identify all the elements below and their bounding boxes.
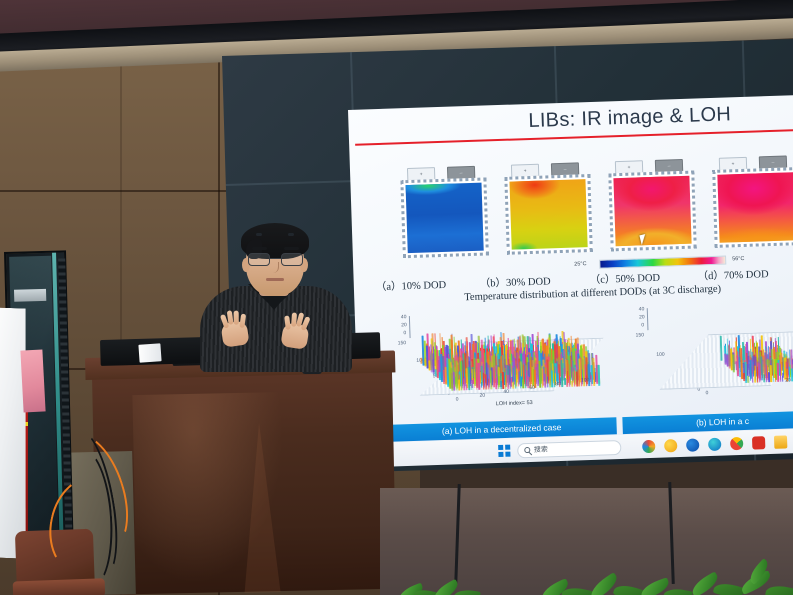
hand-left bbox=[220, 320, 249, 347]
dod-label-d: （d）70% DOD bbox=[697, 266, 768, 283]
ir-image-row: + – + – + – + – + bbox=[400, 147, 793, 266]
z-tick-20: 20 bbox=[639, 314, 645, 320]
inspection-tag bbox=[20, 349, 45, 412]
search-input[interactable]: 搜索 bbox=[517, 439, 621, 457]
edge-legacy-icon[interactable] bbox=[685, 438, 698, 451]
plant-left bbox=[398, 559, 518, 595]
x-tick-0: 0 bbox=[456, 396, 459, 402]
y-tick-150: 150 bbox=[398, 340, 407, 346]
eyebrow-right bbox=[284, 247, 299, 250]
colorbar-min-label: 25°C bbox=[574, 261, 586, 267]
x-tick-0: 0 bbox=[705, 390, 708, 396]
slide-title: LIBs: IR image & LOH bbox=[528, 103, 731, 133]
battery-thermal-a: + – bbox=[400, 165, 489, 258]
edge-icon[interactable] bbox=[707, 437, 720, 450]
z-tick-40: 40 bbox=[401, 314, 407, 320]
chrome-icon[interactable] bbox=[729, 436, 742, 449]
eye-left bbox=[256, 233, 262, 236]
x-tick-100: 100 bbox=[581, 377, 590, 383]
presentation-photo: LIBs: IR image & LOH + – + – + – + – bbox=[0, 0, 793, 595]
file-explorer-icon[interactable] bbox=[773, 435, 786, 448]
dod-label-c: （c）50% DOD bbox=[590, 270, 661, 287]
z-tick-20: 20 bbox=[401, 322, 407, 328]
hand-right bbox=[280, 322, 309, 350]
y-tick-100: 100 bbox=[656, 352, 665, 358]
y-tick-150: 150 bbox=[636, 332, 645, 338]
plant-right bbox=[690, 543, 793, 595]
z-tick-40: 40 bbox=[639, 306, 645, 312]
z-tick-0: 0 bbox=[403, 330, 406, 336]
colorbar-max-label: 56°C bbox=[732, 256, 744, 262]
paper-notes bbox=[138, 343, 161, 362]
x-tick-20: 20 bbox=[785, 377, 791, 383]
x-tick-20: 20 bbox=[479, 393, 485, 399]
battery-thermal-d: + – bbox=[712, 155, 793, 248]
loh-index-label: LOH index= 53 bbox=[496, 400, 533, 407]
podium-body bbox=[92, 370, 397, 595]
start-button-icon[interactable] bbox=[498, 445, 510, 457]
x-tick-80: 80 bbox=[555, 381, 561, 387]
loh-plot-centralized: 40 20 0 150 100 50 0 0 20 bbox=[633, 297, 793, 415]
chair bbox=[15, 529, 95, 595]
loh-plot-row: 40 20 0 150 100 50 0 0 20 40 60 80 100 L… bbox=[397, 297, 793, 423]
battery-thermal-c: + – bbox=[608, 159, 697, 252]
cabinet-label bbox=[14, 289, 46, 302]
dod-label-b: （b）30% DOD bbox=[480, 273, 551, 290]
presentation-slide: LIBs: IR image & LOH + – + – + – + – bbox=[348, 95, 793, 450]
paint-icon[interactable] bbox=[664, 439, 677, 452]
photos-icon[interactable] bbox=[642, 439, 655, 452]
eye-right bbox=[288, 233, 294, 236]
title-underline bbox=[355, 129, 793, 146]
z-tick-0: 0 bbox=[641, 322, 644, 328]
plant-center bbox=[540, 547, 700, 595]
search-icon bbox=[524, 447, 530, 453]
eyebrow-left bbox=[252, 247, 267, 250]
dod-label-a: （a）10% DOD bbox=[376, 277, 447, 294]
wps-icon[interactable] bbox=[751, 436, 764, 449]
mouth bbox=[266, 278, 284, 281]
loh-plot-decentralized: 40 20 0 150 100 50 0 0 20 40 60 80 100 L… bbox=[397, 303, 633, 423]
x-tick-60: 60 bbox=[529, 385, 535, 391]
speaker bbox=[196, 228, 356, 368]
x-tick-40: 40 bbox=[503, 389, 509, 395]
battery-thermal-b: + – bbox=[504, 162, 593, 255]
search-placeholder: 搜索 bbox=[534, 444, 548, 454]
